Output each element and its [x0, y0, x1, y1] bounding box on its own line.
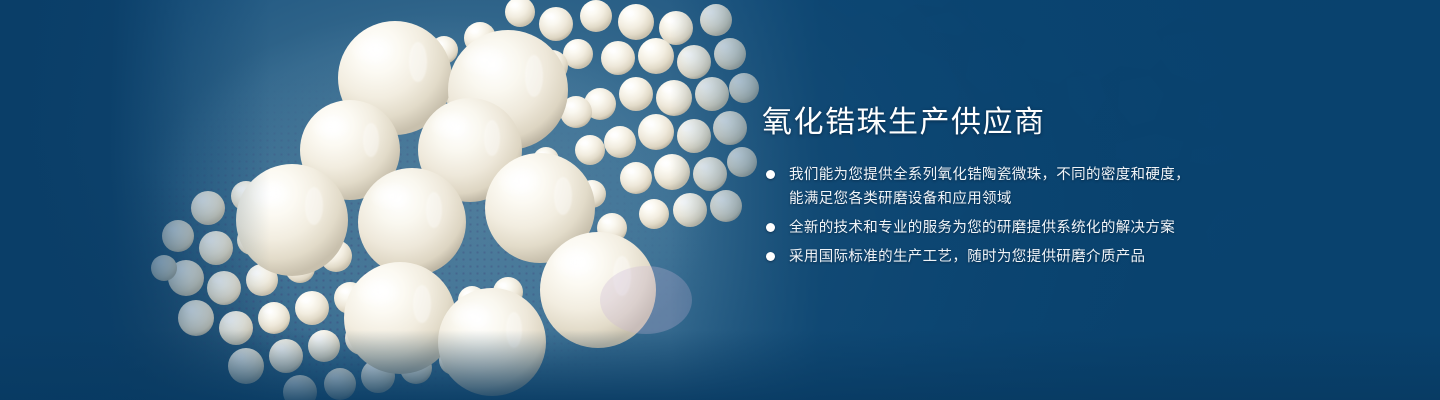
bullet-text: 采用国际标准的生产工艺，随时为您提供研磨介质产品 — [789, 245, 1232, 269]
bullet-dot-icon — [766, 252, 775, 261]
bullet-dot-icon — [766, 223, 775, 232]
page-title: 氧化锆珠生产供应商 — [762, 104, 1232, 142]
list-item: 我们能为您提供全系列氧化锆陶瓷微珠，不同的密度和硬度， 能满足您各类研磨设备和应… — [762, 163, 1232, 211]
hero-banner: 氧化锆珠生产供应商 我们能为您提供全系列氧化锆陶瓷微珠，不同的密度和硬度， 能满… — [0, 0, 1440, 400]
list-item: 采用国际标准的生产工艺，随时为您提供研磨介质产品 — [762, 245, 1232, 269]
bullet-line: 全新的技术和专业的服务为您的研磨提供系统化的解决方案 — [789, 216, 1232, 240]
bullet-text: 全新的技术和专业的服务为您的研磨提供系统化的解决方案 — [789, 216, 1232, 240]
feature-bullet-list: 我们能为您提供全系列氧化锆陶瓷微珠，不同的密度和硬度， 能满足您各类研磨设备和应… — [762, 163, 1232, 269]
bullet-dot-icon — [766, 170, 775, 179]
bullet-line: 采用国际标准的生产工艺，随时为您提供研磨介质产品 — [789, 245, 1232, 269]
bullet-line: 能满足您各类研磨设备和应用领域 — [789, 187, 1232, 211]
bullet-text: 我们能为您提供全系列氧化锆陶瓷微珠，不同的密度和硬度， 能满足您各类研磨设备和应… — [789, 163, 1232, 211]
bullet-line: 我们能为您提供全系列氧化锆陶瓷微珠，不同的密度和硬度， — [789, 163, 1232, 187]
banner-copy: 氧化锆珠生产供应商 我们能为您提供全系列氧化锆陶瓷微珠，不同的密度和硬度， 能满… — [762, 104, 1232, 274]
list-item: 全新的技术和专业的服务为您的研磨提供系统化的解决方案 — [762, 216, 1232, 240]
